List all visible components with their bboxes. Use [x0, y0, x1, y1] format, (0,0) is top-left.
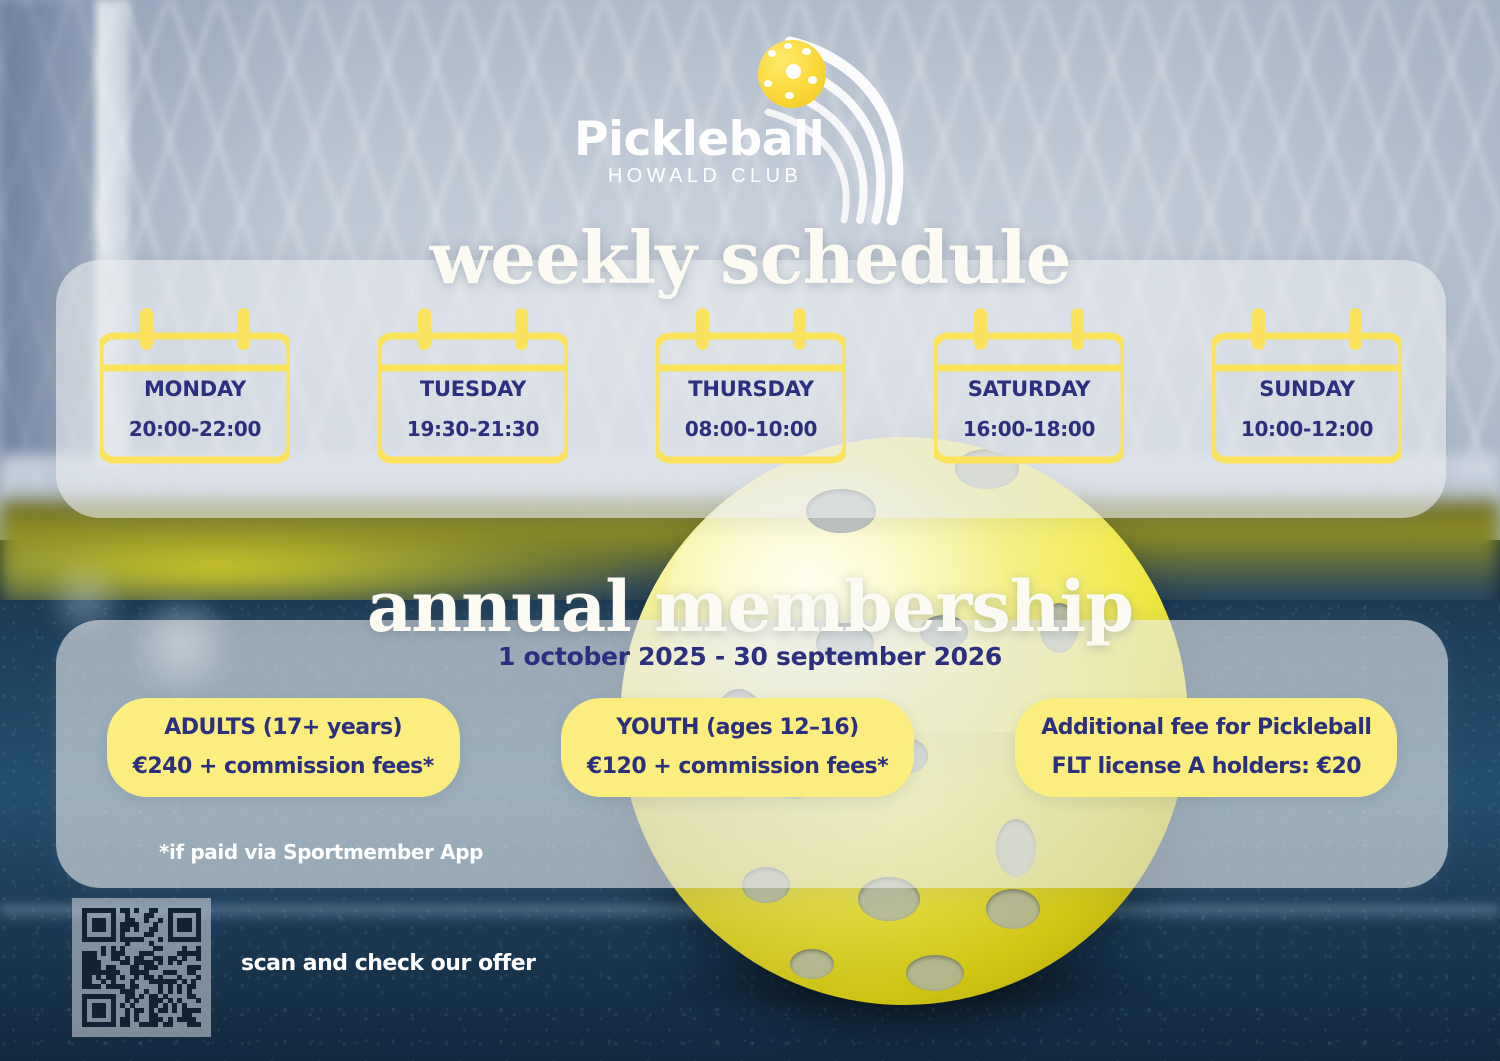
qr-module	[177, 960, 182, 965]
logo-subtitle: HOWALD CLUB	[576, 165, 834, 188]
qr-module	[182, 956, 187, 961]
schedule-day-name: TUESDAY	[378, 378, 568, 400]
qr-code-icon[interactable]	[72, 898, 211, 1037]
qr-module	[153, 908, 158, 913]
qr-module	[153, 927, 158, 932]
qr-module	[101, 951, 106, 956]
annual-membership-title: annual membership	[0, 565, 1500, 648]
qr-module	[134, 908, 139, 913]
qr-module	[196, 956, 201, 961]
qr-module	[139, 994, 144, 999]
qr-module	[139, 1008, 144, 1013]
qr-module	[125, 941, 130, 946]
qr-module	[139, 937, 144, 942]
qr-module	[125, 927, 130, 932]
qr-module	[196, 975, 201, 980]
schedule-day-card: SUNDAY10:00-12:00	[1212, 300, 1402, 470]
qr-module	[158, 960, 163, 965]
pickleball-hole	[986, 889, 1040, 929]
logo-wordmark: Pickleball	[574, 116, 842, 163]
membership-tiers-row: ADULTS (17+ years)€240 + commission fees…	[56, 690, 1448, 805]
qr-module	[187, 927, 192, 932]
qr-module	[111, 937, 116, 942]
schedule-days-row: MONDAY20:00-22:00TUESDAY19:30-21:30THURS…	[56, 300, 1446, 490]
schedule-day-name: THURSDAY	[656, 378, 846, 400]
membership-tier-pill: YOUTH (ages 12–16)€120 + commission fees…	[561, 698, 914, 796]
weekly-schedule-title: weekly schedule	[0, 215, 1500, 300]
qr-module	[196, 1008, 201, 1013]
qr-module	[153, 1022, 158, 1027]
schedule-day-card: THURSDAY08:00-10:00	[656, 300, 846, 470]
qr-module	[134, 975, 139, 980]
qr-module	[134, 927, 139, 932]
qr-module	[96, 984, 101, 989]
qr-module	[177, 989, 182, 994]
qr-module	[101, 927, 106, 932]
qr-module	[120, 975, 125, 980]
schedule-day-name: SUNDAY	[1212, 378, 1402, 400]
membership-tier-price: FLT license A holders: €20	[1041, 755, 1371, 779]
qr-module	[125, 1022, 130, 1027]
qr-module	[196, 998, 201, 1003]
qr-module	[172, 1008, 177, 1013]
qr-module	[149, 932, 154, 937]
qr-module	[144, 918, 149, 923]
membership-tier-price: €120 + commission fees*	[587, 755, 888, 779]
membership-date-range: 1 october 2025 - 30 september 2026	[0, 642, 1500, 671]
membership-footnote: *if paid via Sportmember App	[159, 840, 483, 864]
qr-module	[191, 984, 196, 989]
membership-tier-price: €240 + commission fees*	[133, 755, 434, 779]
schedule-day-card: TUESDAY19:30-21:30	[378, 300, 568, 470]
schedule-day-time: 20:00-22:00	[100, 417, 290, 441]
pickleball-hole	[906, 955, 964, 991]
qr-module	[168, 1022, 173, 1027]
schedule-day-card: SATURDAY16:00-18:00	[934, 300, 1124, 470]
qr-module	[168, 960, 173, 965]
qr-module	[196, 965, 201, 970]
membership-tier-label: ADULTS (17+ years)	[133, 716, 434, 740]
schedule-day-name: SATURDAY	[934, 378, 1124, 400]
poster-root: Pickleball HOWALD CLUB weekly schedule M…	[0, 0, 1500, 1061]
schedule-day-card: MONDAY20:00-22:00	[100, 300, 290, 470]
qr-module	[149, 913, 154, 918]
qr-module	[134, 984, 139, 989]
membership-tier-label: Additional fee for Pickleball	[1041, 716, 1371, 740]
membership-tier-pill: Additional fee for PickleballFLT license…	[1015, 698, 1397, 796]
qr-module	[101, 1013, 106, 1018]
qr-module	[134, 998, 139, 1003]
qr-module	[158, 937, 163, 942]
pickleball-hole	[790, 949, 834, 979]
membership-tier-pill: ADULTS (17+ years)€240 + commission fees…	[107, 698, 460, 796]
schedule-day-name: MONDAY	[100, 378, 290, 400]
schedule-day-time: 08:00-10:00	[656, 417, 846, 441]
qr-module	[158, 918, 163, 923]
schedule-day-time: 19:30-21:30	[378, 417, 568, 441]
qr-module	[196, 937, 201, 942]
club-logo: Pickleball HOWALD CLUB	[0, 22, 1500, 202]
qr-module	[158, 946, 163, 951]
qr-module	[153, 965, 158, 970]
schedule-day-time: 16:00-18:00	[934, 417, 1124, 441]
membership-tier-label: YOUTH (ages 12–16)	[587, 716, 888, 740]
qr-module	[196, 1022, 201, 1027]
qr-module	[168, 989, 173, 994]
qr-module	[163, 1008, 168, 1013]
schedule-day-time: 10:00-12:00	[1212, 417, 1402, 441]
logo-pickleball-icon	[758, 40, 826, 108]
qr-module	[111, 1022, 116, 1027]
scan-cta-label: scan and check our offer	[241, 951, 536, 976]
